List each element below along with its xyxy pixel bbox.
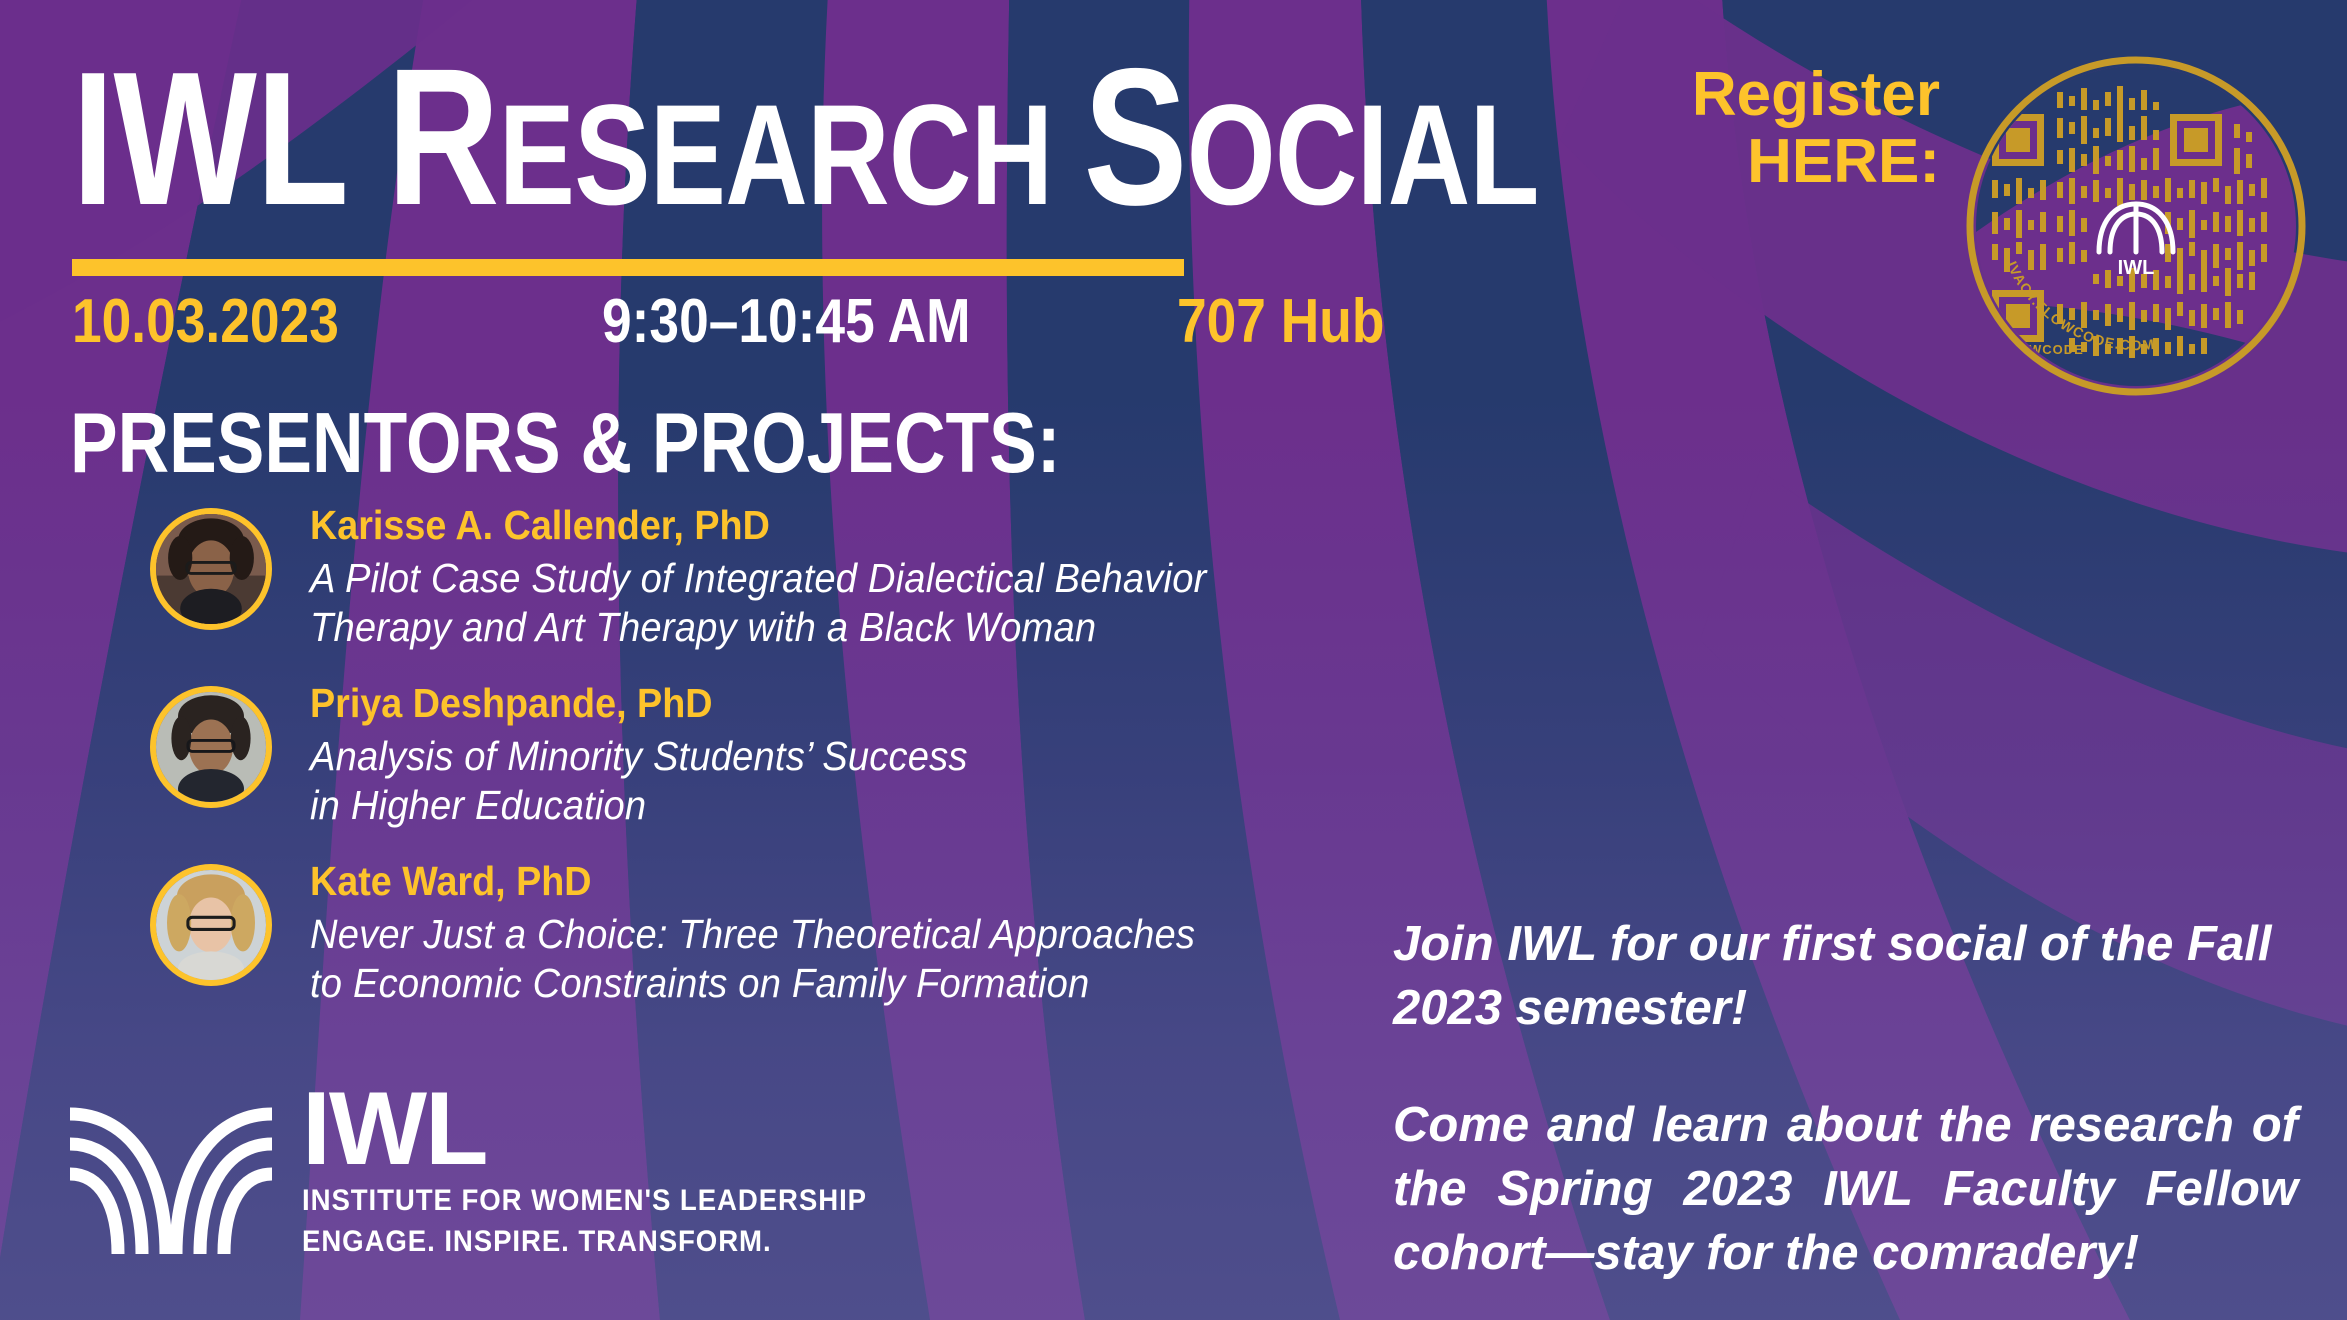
presenter-row: Kate Ward, PhD Never Just a Choice: Thre…	[150, 854, 1350, 1032]
title-word-research: RESEARCH	[387, 28, 1084, 246]
title-block: IWL RESEARCH SOCIAL	[72, 48, 1412, 227]
paragraph-spacer	[1393, 1040, 2298, 1094]
event-description-paragraph-1: Join IWL for our first social of the Fal…	[1393, 913, 2298, 1040]
page-title: IWL RESEARCH SOCIAL	[72, 48, 1144, 227]
presenters-list: Karisse A. Callender, PhD A Pilot Case S…	[150, 498, 1350, 1032]
register-label-line1: Register	[1620, 62, 1940, 129]
presenter-project: A Pilot Case Study of Integrated Dialect…	[310, 554, 1277, 652]
avatar	[150, 508, 272, 630]
presenter-row: Karisse A. Callender, PhD A Pilot Case S…	[150, 498, 1350, 676]
register-label-line2: HERE:	[1620, 129, 1940, 196]
avatar	[150, 686, 272, 808]
presenter-name: Kate Ward, PhD	[310, 858, 1267, 905]
title-underline-rule	[72, 259, 1184, 276]
flyer-canvas: IWL RESEARCH SOCIAL 10.03.2023 9:30–10:4…	[0, 0, 2347, 1320]
qr-center-logo-label: IWL	[2118, 257, 2155, 279]
presenter-name: Karisse A. Callender, PhD	[310, 502, 1267, 549]
event-date: 10.03.2023	[72, 286, 339, 357]
presenters-heading: PRESENTORS & PROJECTS:	[70, 395, 1061, 493]
event-location: 707 Hub	[1177, 286, 1384, 357]
presenter-row: Priya Deshpande, PhD Analysis of Minorit…	[150, 676, 1350, 854]
presenter-text: Karisse A. Callender, PhD A Pilot Case S…	[310, 498, 1350, 652]
avatar	[150, 864, 272, 986]
event-description: Join IWL for our first social of the Fal…	[1393, 913, 2298, 1285]
presenter-text: Priya Deshpande, PhD Analysis of Minorit…	[310, 676, 1350, 830]
presenter-text: Kate Ward, PhD Never Just a Choice: Thre…	[310, 854, 1350, 1008]
presenter-project: Analysis of Minority Students’ Success i…	[310, 732, 1277, 830]
title-lead: IWL	[72, 33, 387, 245]
qr-brand-label: FLOWCODE	[2000, 342, 2084, 357]
register-callout: Register HERE:	[1620, 62, 1940, 196]
title-word-social: SOCIAL	[1083, 28, 1538, 246]
event-time: 9:30–10:45 AM	[602, 286, 971, 357]
iwl-fan-mark-icon	[62, 1078, 280, 1258]
iwl-wordmark-group: IWL INSTITUTE FOR WOMEN'S LEADERSHIP ENG…	[302, 1082, 916, 1261]
iwl-logo-lockup: IWL INSTITUTE FOR WOMEN'S LEADERSHIP ENG…	[62, 1078, 682, 1268]
iwl-tagline-line-2: ENGAGE. INSPIRE. TRANSFORM.	[302, 1223, 867, 1261]
qr-code[interactable]: IWL FLOWCODE PRIVACY.FLOWCODE.COM	[1962, 52, 2310, 400]
presenter-name: Priya Deshpande, PhD	[310, 680, 1267, 727]
event-description-paragraph-2: Come and learn about the research of the…	[1393, 1094, 2298, 1285]
presenter-project: Never Just a Choice: Three Theoretical A…	[310, 910, 1277, 1008]
iwl-tagline-line-1: INSTITUTE FOR WOMEN'S LEADERSHIP	[302, 1182, 867, 1220]
iwl-wordmark: IWL	[302, 1082, 916, 1178]
event-meta-line: 10.03.2023 9:30–10:45 AM 707 Hub	[72, 286, 1392, 352]
